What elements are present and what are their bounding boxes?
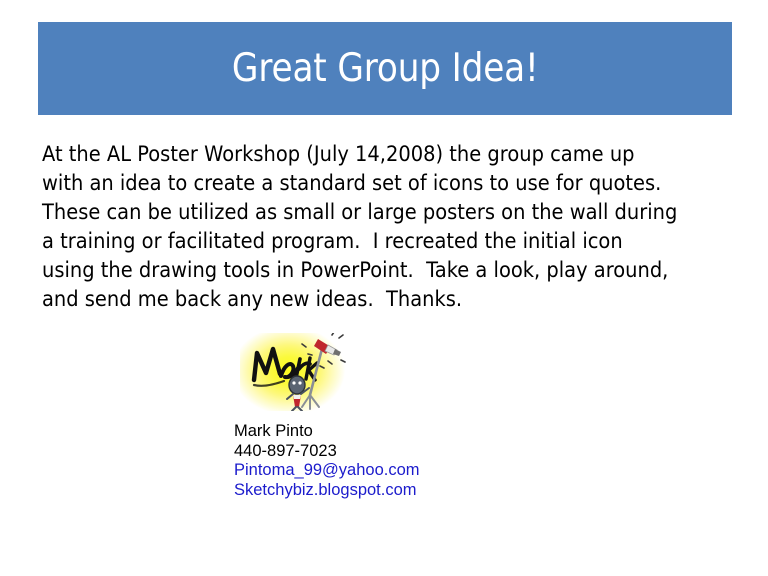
body-line: using the drawing tools in PowerPoint. T…	[42, 256, 676, 285]
body-paragraph: At the AL Poster Workshop (July 14,2008)…	[42, 140, 742, 314]
page-title: Great Group Idea!	[232, 49, 539, 88]
slide-canvas: Great Group Idea! At the AL Poster Works…	[0, 0, 768, 576]
body-line: and send me back any new ideas. Thanks.	[42, 285, 676, 314]
contact-website-link[interactable]: Sketchybiz.blogspot.com	[234, 481, 420, 501]
body-line: a training or facilitated program. I rec…	[42, 227, 676, 256]
body-line: with an idea to create a standard set of…	[42, 169, 676, 198]
contact-phone: 440-897-7023	[234, 442, 420, 462]
body-line: These can be utilized as small or large …	[42, 198, 676, 227]
contact-name: Mark Pinto	[234, 422, 420, 442]
contact-block: Mark Pinto 440-897-7023 Pintoma_99@yahoo…	[234, 422, 420, 500]
body-line: At the AL Poster Workshop (July 14,2008)…	[42, 140, 676, 169]
title-banner: Great Group Idea!	[38, 22, 732, 115]
contact-email-link[interactable]: Pintoma_99@yahoo.com	[234, 461, 420, 481]
logo-artwork-icon	[240, 333, 346, 411]
signature-logo-image	[240, 333, 346, 411]
